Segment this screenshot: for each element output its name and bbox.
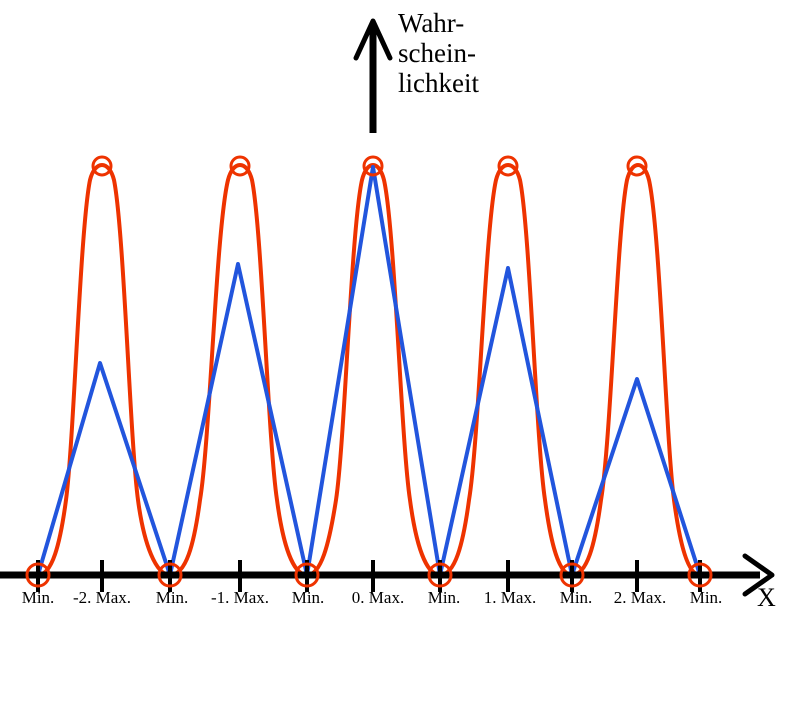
y-axis-label-line-1: Wahr- xyxy=(398,8,479,38)
probability-interference-plot xyxy=(0,0,800,720)
red-envelope-curve xyxy=(38,165,700,575)
x-tick-label: 2. Max. xyxy=(614,588,666,608)
red-curve-path xyxy=(38,165,700,575)
chart-canvas: Wahr- schein- lichkeit X Min. -2. Max. M… xyxy=(0,0,800,720)
x-tick-label: Min. xyxy=(560,588,593,608)
x-tick-label: -2. Max. xyxy=(73,588,131,608)
x-tick-label: Min. xyxy=(428,588,461,608)
x-tick-label: 1. Max. xyxy=(484,588,536,608)
x-tick-label: Min. xyxy=(292,588,325,608)
x-tick-label: Min. xyxy=(690,588,723,608)
y-axis-label: Wahr- schein- lichkeit xyxy=(398,8,479,99)
y-axis-label-line-2: schein- xyxy=(398,38,479,68)
y-axis-label-line-3: lichkeit xyxy=(398,68,479,98)
x-tick-label: 0. Max. xyxy=(352,588,404,608)
x-tick-label: Min. xyxy=(156,588,189,608)
x-tick-label: -1. Max. xyxy=(211,588,269,608)
x-tick-label: Min. xyxy=(22,588,55,608)
y-axis xyxy=(356,21,390,133)
x-axis-label: X xyxy=(757,583,776,612)
